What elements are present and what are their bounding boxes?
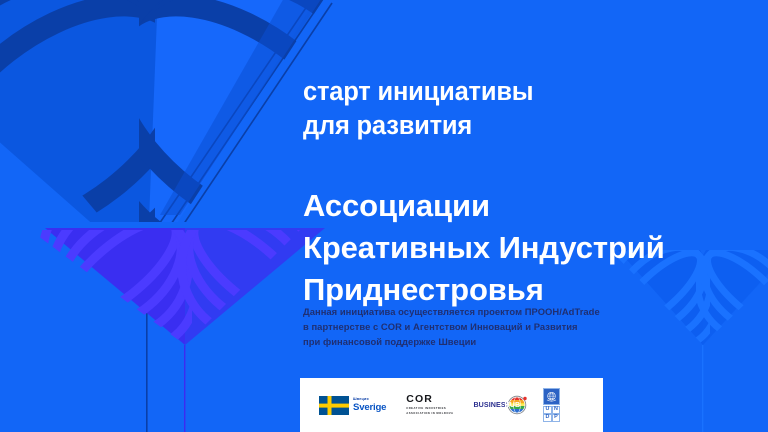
logo-undp: U N D P [543,388,560,423]
undp-letter-u: U [543,406,551,414]
page-title: Ассоциации Креативных Индустрий Приднест… [303,185,733,311]
undp-letter-d: D [543,414,551,422]
funding-disclaimer: Данная инициатива осуществляется проекто… [303,304,723,350]
poster-content: старт инициативы для развития Ассоциации… [300,0,768,432]
sweden-wordmark: Швеция Sverige [353,398,386,413]
eyebrow-text: старт инициативы для развития [303,76,723,143]
sweden-label-en: Sverige [353,403,386,413]
undp-letter-p: P [552,414,560,422]
undp-wordmark: U N D P [543,406,560,423]
logo-business-hub: BUSINESS [473,394,523,416]
swedish-flag-icon [319,396,349,415]
cor-tagline: CREATIVE INDUSTRIES ASSOCIATION IN MOLDO… [406,407,453,415]
logo-cor: COR CREATIVE INDUSTRIES ASSOCIATION IN M… [406,394,453,415]
cor-wordmark: COR [406,394,433,405]
undp-letter-n: N [552,406,560,414]
business-hub-word2: HUB [505,401,521,409]
poster-canvas: старт инициативы для развития Ассоциации… [0,0,768,432]
partner-logo-bar: Швеция Sverige COR CREATIVE INDUSTRIES A… [300,378,603,432]
sweden-label-ru: Швеция [353,398,386,402]
logo-sweden: Швеция Sverige [319,396,386,415]
un-emblem-icon [543,388,560,405]
